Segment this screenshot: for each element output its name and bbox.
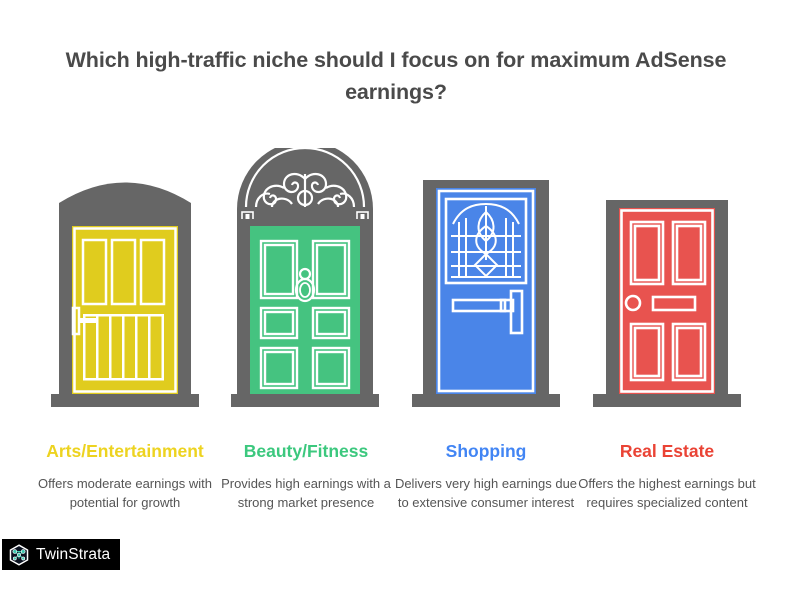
lintel [59,211,191,219]
lower-slat [122,316,125,378]
door-beauty-fitness-illustration [206,148,404,418]
caption-shopping: Shopping Delivers very high earnings due… [391,440,581,512]
caption-desc-real-estate: Offers the highest earnings but requires… [572,474,762,512]
caption-desc-beauty-fitness: Provides high earnings with a strong mar… [211,474,401,512]
caption-title-arts-entertainment: Arts/Entertainment [30,440,220,462]
lower-slat [109,316,112,378]
caption-desc-shopping: Delivers very high earnings due to exten… [391,474,581,512]
caption-title-beauty-fitness: Beauty/Fitness [211,440,401,462]
caption-desc-arts-entertainment: Offers moderate earnings with potential … [30,474,220,512]
lower-slat [96,316,99,378]
caption-title-shopping: Shopping [391,440,581,462]
door-shopping-illustration [387,148,585,418]
threshold-step [231,394,379,407]
arch-head [59,183,191,212]
lintel [237,209,373,219]
door-arts-entertainment[interactable] [26,148,224,418]
threshold-step [412,394,560,407]
bottom-rail [83,378,164,381]
doors-row [0,148,792,418]
logo-badge[interactable]: TwinStrata [2,539,120,570]
caption-real-estate: Real Estate Offers the highest earnings … [572,440,762,512]
lower-slat [83,316,86,378]
lower-slat [135,316,138,378]
threshold-step [593,394,741,407]
caption-arts-entertainment: Arts/Entertainment Offers moderate earni… [30,440,220,512]
door-handle-icon[interactable] [79,318,96,323]
door-shopping[interactable] [387,148,585,418]
door-beauty-fitness[interactable] [206,148,404,418]
title-block: Which high-traffic niche should I focus … [0,44,792,108]
logo-text: TwinStrata [36,546,110,564]
page-title: Which high-traffic niche should I focus … [26,44,766,108]
network-nodes-hexagon-icon [8,544,30,566]
caption-title-real-estate: Real Estate [572,440,762,462]
door-real-estate[interactable] [568,148,766,418]
door-leaf [250,226,360,394]
lower-slat [148,316,151,378]
threshold-step [51,394,199,407]
caption-beauty-fitness: Beauty/Fitness Provides high earnings wi… [211,440,401,512]
captions-row: Arts/Entertainment Offers moderate earni… [0,440,792,550]
lower-slat [162,316,165,378]
door-arts-entertainment-illustration [26,148,224,418]
door-real-estate-illustration [568,148,766,418]
